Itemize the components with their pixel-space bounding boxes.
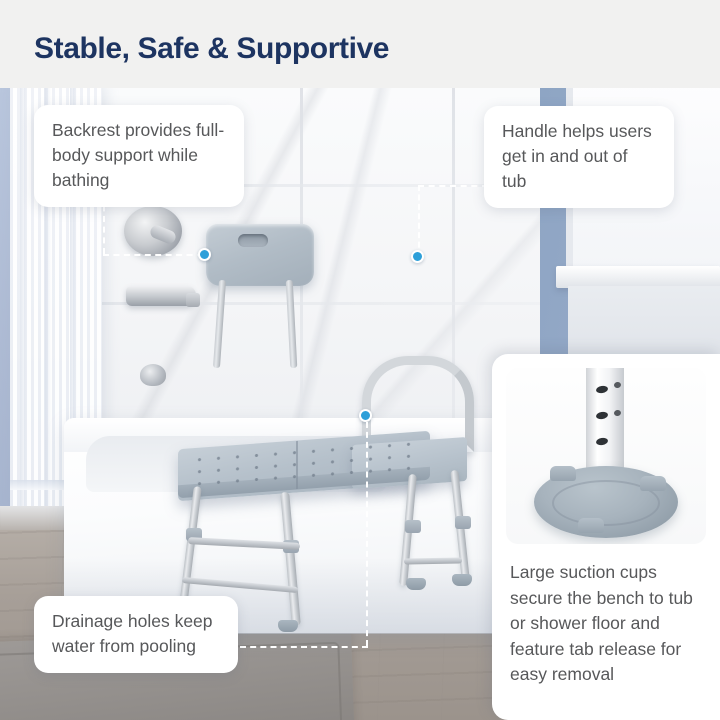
connector-line-handle xyxy=(418,185,488,187)
suction-cup-release-tab xyxy=(640,476,666,491)
page-title: Stable, Safe & Supportive xyxy=(34,32,389,66)
connector-line-backrest xyxy=(103,254,203,256)
header-band: Stable, Safe & Supportive xyxy=(0,0,720,88)
bench-cross-bar xyxy=(182,577,298,593)
suction-cup-detail-panel: Large suction cups secure the bench to t… xyxy=(492,354,720,720)
suction-cup-photo xyxy=(506,368,706,544)
suction-cup-release-tab xyxy=(578,518,604,533)
backrest-grip-slot xyxy=(238,234,268,247)
suction-cup-foot xyxy=(278,620,298,632)
connector-line-drainage xyxy=(366,422,368,646)
suction-cup-foot xyxy=(452,574,472,586)
suction-cup-foot xyxy=(406,578,426,590)
marker-dot-backrest[interactable] xyxy=(198,248,211,261)
connector-line-drainage xyxy=(240,646,368,648)
connector-line-handle xyxy=(418,185,420,257)
bench-leg xyxy=(178,486,202,614)
infographic-page: Stable, Safe & Supportive xyxy=(0,0,720,720)
backrest-post xyxy=(286,280,298,368)
backrest-callout: Backrest provides full-body support whil… xyxy=(34,105,244,207)
marker-dot-drainage[interactable] xyxy=(359,409,372,422)
suction-cup-caption: Large suction cups secure the bench to t… xyxy=(506,560,706,688)
drainage-callout: Drainage holes keep water from pooling xyxy=(34,596,238,673)
handle-callout: Handle helps users get in and out of tub xyxy=(484,106,674,208)
bench-cross-bar xyxy=(404,557,462,564)
marker-dot-handle[interactable] xyxy=(411,250,424,263)
suction-cup-release-tab xyxy=(550,466,576,481)
leg-height-clamp xyxy=(455,516,471,529)
backrest-post xyxy=(213,280,226,368)
seat-panel-seam xyxy=(296,441,298,489)
leg-height-clamp xyxy=(405,520,421,533)
bench-leg xyxy=(280,492,301,626)
